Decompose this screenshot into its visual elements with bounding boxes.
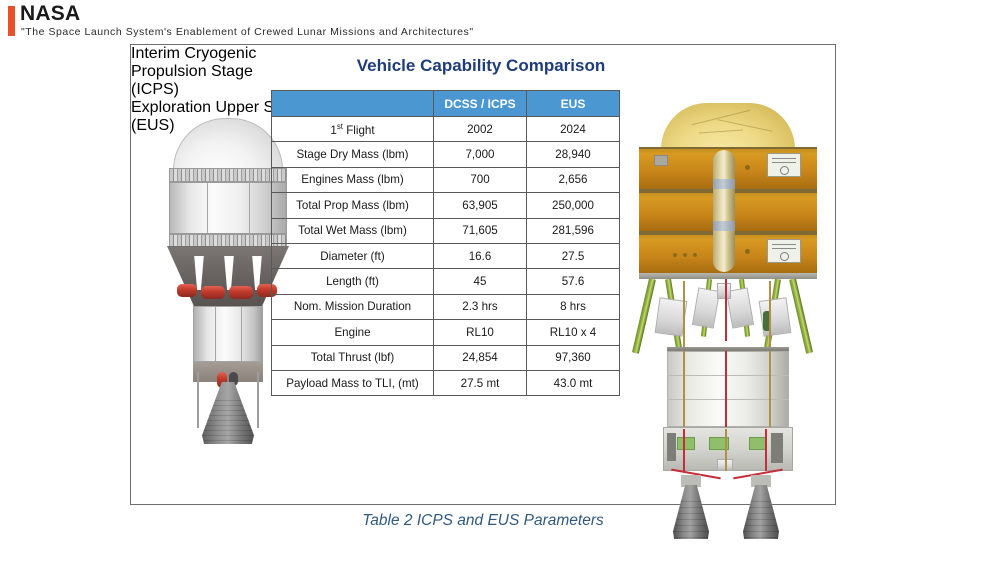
eus-propellant-line bbox=[725, 351, 727, 427]
cell-dcss-icps: RL10 bbox=[434, 320, 527, 345]
icps-lower-ribbed-collar bbox=[169, 234, 287, 247]
row-label-nom-mission-duration: Nom. Mission Duration bbox=[272, 294, 434, 319]
icps-helium-tank bbox=[229, 286, 253, 299]
row-label-length: Length (ft) bbox=[272, 269, 434, 294]
cell-dcss-icps: 16.6 bbox=[434, 243, 527, 268]
icps-heading-l2: Propulsion Stage bbox=[131, 63, 253, 80]
cell-eus: 281,596 bbox=[527, 218, 620, 243]
icps-lower-seam bbox=[215, 306, 216, 362]
table-title: Vehicle Capability Comparison bbox=[321, 56, 641, 76]
eus-port bbox=[745, 249, 750, 254]
eus-truss-strut bbox=[632, 278, 656, 354]
eus-port bbox=[745, 165, 750, 170]
column-header-dcss-icps: DCSS / ICPS bbox=[434, 91, 527, 117]
eus-propellant-line bbox=[683, 281, 685, 353]
cell-dcss-icps: 63,905 bbox=[434, 193, 527, 218]
eus-engine-feedline bbox=[683, 429, 685, 471]
figure-frame: Exploration Upper Stage Interim Cryogeni… bbox=[130, 44, 836, 505]
eus-engine-component bbox=[771, 433, 783, 463]
figure-caption: Table 2 ICPS and EUS Parameters bbox=[130, 512, 836, 530]
row-label-engine: Engine bbox=[272, 320, 434, 345]
table-row: Nom. Mission Duration 2.3 hrs 8 hrs bbox=[272, 294, 620, 319]
eus-port bbox=[673, 253, 677, 257]
icps-tank-barrel bbox=[169, 182, 287, 234]
cell-eus: 57.6 bbox=[527, 269, 620, 294]
icps-barrel-seam bbox=[249, 182, 250, 234]
cell-dcss-icps: 7,000 bbox=[434, 142, 527, 167]
cell-eus: 250,000 bbox=[527, 193, 620, 218]
nasa-accent-bar-icon bbox=[8, 6, 15, 36]
eus-engine-component bbox=[667, 433, 676, 461]
eus-truss-strut bbox=[789, 278, 813, 354]
row-label-engines-mass: Engines Mass (lbm) bbox=[272, 167, 434, 192]
table-row: Total Thrust (lbf) 24,854 97,360 bbox=[272, 345, 620, 370]
table-row: Total Prop Mass (lbm) 63,905 250,000 bbox=[272, 193, 620, 218]
table-row: Total Wet Mass (lbm) 71,605 281,596 bbox=[272, 218, 620, 243]
table-row: Payload Mass to TLI, (mt) 27.5 mt 43.0 m… bbox=[272, 370, 620, 395]
eus-upper-decal bbox=[767, 153, 801, 177]
eus-lower-decal bbox=[767, 239, 801, 263]
row-label-total-prop-mass: Total Prop Mass (lbm) bbox=[272, 193, 434, 218]
eus-feedline-conduit bbox=[713, 150, 735, 272]
vehicle-capability-comparison-table: DCSS / ICPS EUS 1st Flight 2002 2024 Sta… bbox=[271, 90, 620, 396]
eus-engine-feedline bbox=[765, 429, 767, 471]
eus-stage-illustration bbox=[621, 103, 836, 498]
icps-barrel-seam bbox=[207, 182, 208, 234]
eus-engine-feedline bbox=[725, 429, 727, 471]
eus-conduit-clamp bbox=[713, 179, 735, 189]
icps-support-rail bbox=[197, 372, 199, 428]
icps-helium-tank bbox=[201, 286, 225, 299]
nasa-wordmark: NASA bbox=[20, 2, 80, 26]
column-header-parameter bbox=[272, 91, 434, 117]
cell-eus: RL10 x 4 bbox=[527, 320, 620, 345]
icps-heading-l3: (ICPS) bbox=[131, 81, 179, 98]
nasa-document-header: NASA "The Space Launch System's Enableme… bbox=[0, 0, 1000, 42]
cell-eus: 27.5 bbox=[527, 243, 620, 268]
cell-dcss-icps: 27.5 mt bbox=[434, 370, 527, 395]
icps-lower-cylinder bbox=[193, 306, 263, 362]
table-row: Engines Mass (lbm) 700 2,656 bbox=[272, 167, 620, 192]
cell-eus: 8 hrs bbox=[527, 294, 620, 319]
eus-propellant-line bbox=[683, 351, 685, 427]
eus-propellant-line bbox=[769, 351, 771, 427]
column-header-eus: EUS bbox=[527, 91, 620, 117]
eus-avionics-box bbox=[692, 287, 720, 328]
eus-propellant-line bbox=[769, 281, 771, 353]
cell-eus: 2,656 bbox=[527, 167, 620, 192]
icps-engine-skirt bbox=[193, 362, 263, 382]
eus-port bbox=[693, 253, 697, 257]
icps-nozzle-ribbing bbox=[202, 400, 254, 444]
row-label-first-flight: 1st Flight bbox=[272, 117, 434, 142]
eus-forward-dome bbox=[661, 103, 795, 149]
icps-upper-ribbed-collar bbox=[169, 168, 287, 182]
table-row: Diameter (ft) 16.6 27.5 bbox=[272, 243, 620, 268]
eus-engine-panel bbox=[677, 437, 695, 450]
table-row: Engine RL10 RL10 x 4 bbox=[272, 320, 620, 345]
icps-support-rail bbox=[257, 372, 259, 428]
cell-dcss-icps: 71,605 bbox=[434, 218, 527, 243]
eus-access-hatch bbox=[654, 155, 668, 166]
row-label-total-wet-mass: Total Wet Mass (lbm) bbox=[272, 218, 434, 243]
document-subtitle: "The Space Launch System's Enablement of… bbox=[21, 26, 474, 38]
row-label-stage-dry-mass: Stage Dry Mass (lbm) bbox=[272, 142, 434, 167]
eus-conduit-clamp bbox=[713, 221, 735, 231]
eus-interstage-top-plate bbox=[639, 273, 817, 279]
row-label-total-thrust: Total Thrust (lbf) bbox=[272, 345, 434, 370]
cell-eus: 28,940 bbox=[527, 142, 620, 167]
cell-eus: 2024 bbox=[527, 117, 620, 142]
icps-heading-l1: Interim Cryogenic bbox=[131, 45, 256, 62]
row-label-payload-mass-tli: Payload Mass to TLI, (mt) bbox=[272, 370, 434, 395]
eus-propellant-line bbox=[725, 279, 727, 341]
table-row: 1st Flight 2002 2024 bbox=[272, 117, 620, 142]
cell-dcss-icps: 2002 bbox=[434, 117, 527, 142]
eus-port bbox=[683, 253, 687, 257]
icps-forward-dome bbox=[173, 118, 283, 170]
cell-dcss-icps: 2.3 hrs bbox=[434, 294, 527, 319]
cell-dcss-icps: 24,854 bbox=[434, 345, 527, 370]
cell-dcss-icps: 45 bbox=[434, 269, 527, 294]
table-header-row: DCSS / ICPS EUS bbox=[272, 91, 620, 117]
cell-eus: 97,360 bbox=[527, 345, 620, 370]
cell-eus: 43.0 mt bbox=[527, 370, 620, 395]
table-row: Stage Dry Mass (lbm) 7,000 28,940 bbox=[272, 142, 620, 167]
table-row: Length (ft) 45 57.6 bbox=[272, 269, 620, 294]
row-label-diameter: Diameter (ft) bbox=[272, 243, 434, 268]
eus-avionics-box bbox=[717, 283, 731, 299]
icps-lower-seam bbox=[241, 306, 242, 362]
cell-dcss-icps: 700 bbox=[434, 167, 527, 192]
icps-helium-tank bbox=[177, 284, 197, 297]
